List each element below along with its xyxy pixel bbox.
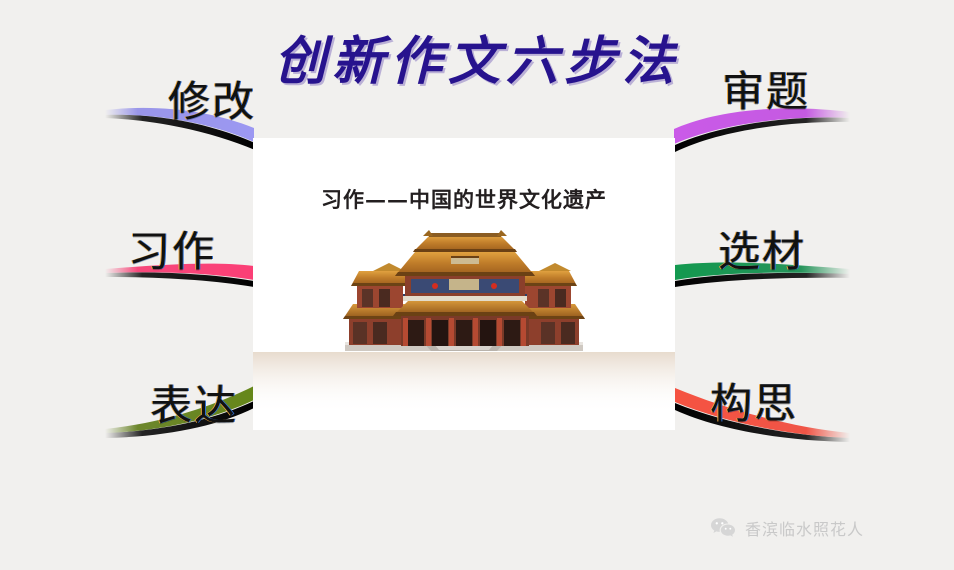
watermark-text: 香滨临水照花人 [745,516,864,540]
page-title: 创新作文六步法 [0,36,954,88]
card-heading: 习作——中国的世界文化遗产 [253,184,675,214]
center-content-card: 习作——中国的世界文化遗产 [253,138,675,430]
watermark: 香滨临水照花人 [710,516,864,540]
palace-reflection [253,352,675,424]
branch-label-gousi[interactable]: 构思 [710,370,798,431]
branch-label-xizuo[interactable]: 习作 [128,218,216,279]
branch-label-xuancai[interactable]: 选材 [718,218,806,279]
chinese-palace-icon [253,224,675,424]
wechat-icon [710,517,736,539]
palace-illustration [253,224,675,424]
branch-label-biaoda[interactable]: 表达 [150,372,238,433]
presentation-slide: 创新作文六步法 [0,0,954,570]
